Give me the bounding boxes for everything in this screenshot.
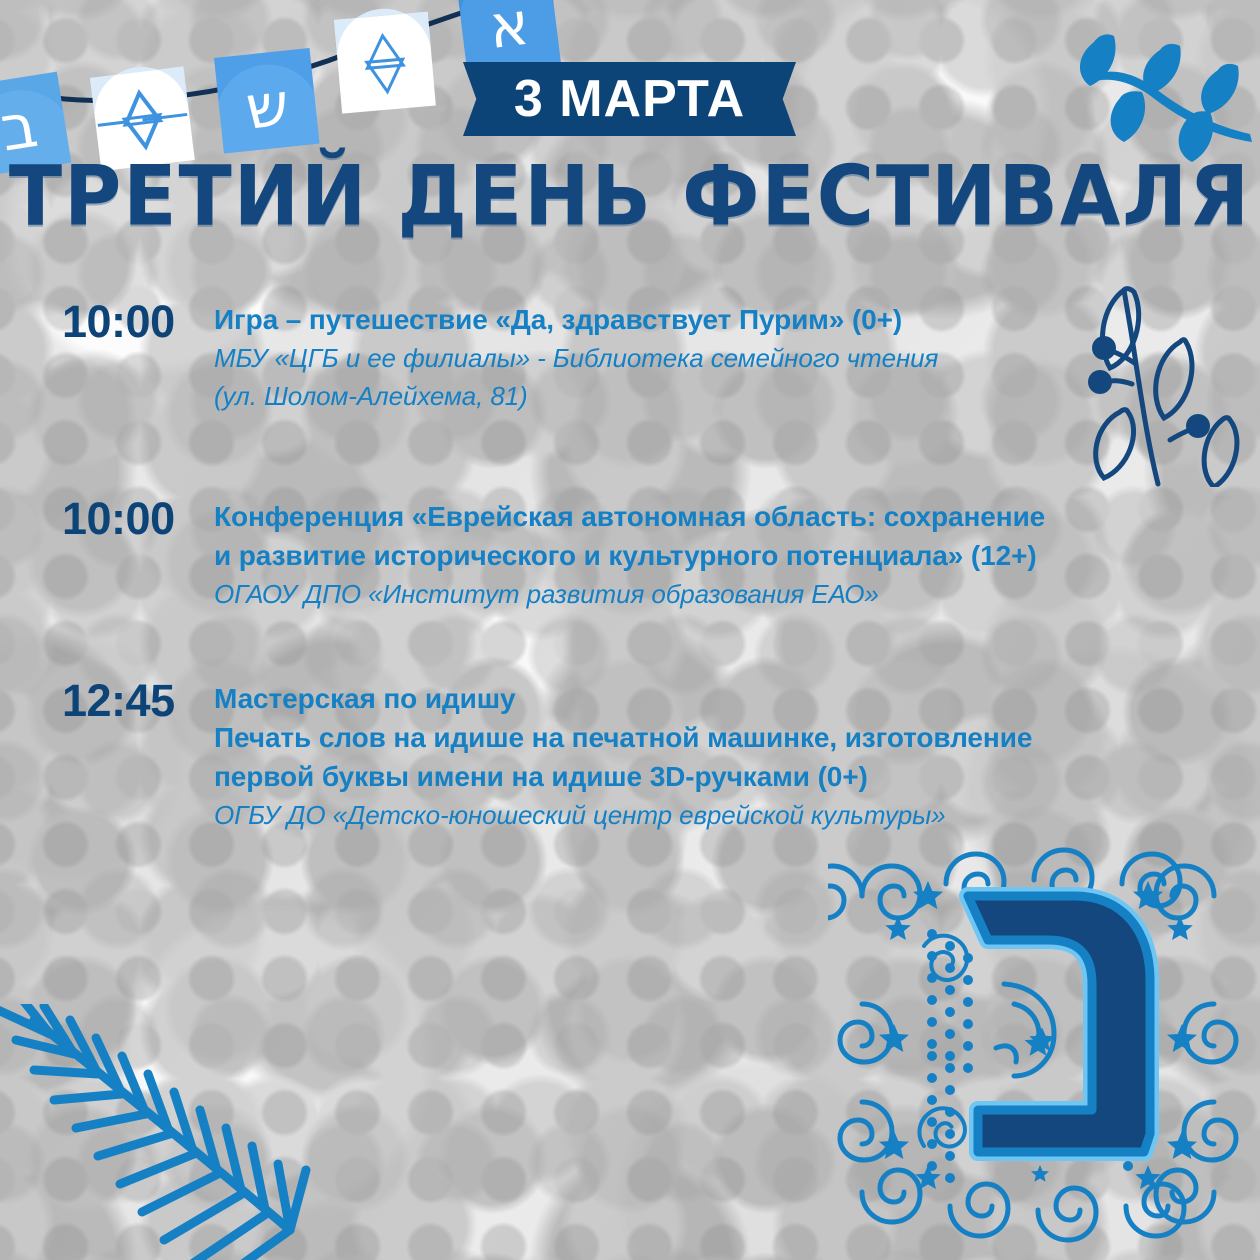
schedule-list: 10:00 Игра – путешествие «Да, здравствуе… (62, 296, 1202, 834)
schedule-event: 10:00 Конференция «Еврейская автономная … (62, 493, 1202, 613)
event-venue: ОГАОУ ДПО «Институт развития образования… (214, 575, 1202, 613)
event-title-continued-2: первой буквы имени на идише 3D-ручками (… (214, 757, 1202, 796)
event-title-continued: Печать слов на идише на печатной машинке… (214, 718, 1202, 757)
event-details: Конференция «Еврейская автономная област… (214, 493, 1202, 613)
bunting-flag-star (333, 5, 435, 114)
date-badge: 3 МАРТА (463, 62, 796, 136)
schedule-event: 12:45 Мастерская по идишу Печать слов на… (62, 675, 1202, 834)
event-title: Мастерская по идишу (214, 679, 1202, 718)
event-details: Мастерская по идишу Печать слов на идише… (214, 675, 1202, 834)
svg-text:א: א (485, 0, 533, 63)
event-time: 12:45 (62, 675, 214, 725)
festival-poster: ב ש א (0, 0, 1260, 1260)
event-details: Игра – путешествие «Да, здравствует Пури… (214, 296, 1202, 415)
palm-frond-icon (0, 1004, 390, 1260)
event-title: Игра – путешествие «Да, здравствует Пури… (214, 300, 1202, 339)
ornate-hebrew-letter-bet (828, 834, 1248, 1254)
event-title-continued: и развитие исторического и культурного п… (214, 536, 1202, 575)
event-time: 10:00 (62, 296, 214, 346)
bunting-flag-shin: ש (214, 48, 320, 154)
event-venue: ОГБУ ДО «Детско-юношеский центр еврейско… (214, 796, 1202, 834)
page-title: ТРЕТИЙ ДЕНЬ ФЕСТИВАЛЯ (0, 149, 1260, 244)
event-title: Конференция «Еврейская автономная област… (214, 497, 1202, 536)
event-venue: МБУ «ЦГБ и ее филиалы» - Библиотека семе… (214, 339, 1202, 377)
event-venue-address: (ул. Шолом-Алейхема, 81) (214, 377, 1202, 415)
schedule-event: 10:00 Игра – путешествие «Да, здравствуе… (62, 296, 1202, 415)
svg-text:ש: ש (243, 70, 293, 144)
date-badge-label: 3 МАРТА (463, 62, 796, 136)
event-time: 10:00 (62, 493, 214, 543)
